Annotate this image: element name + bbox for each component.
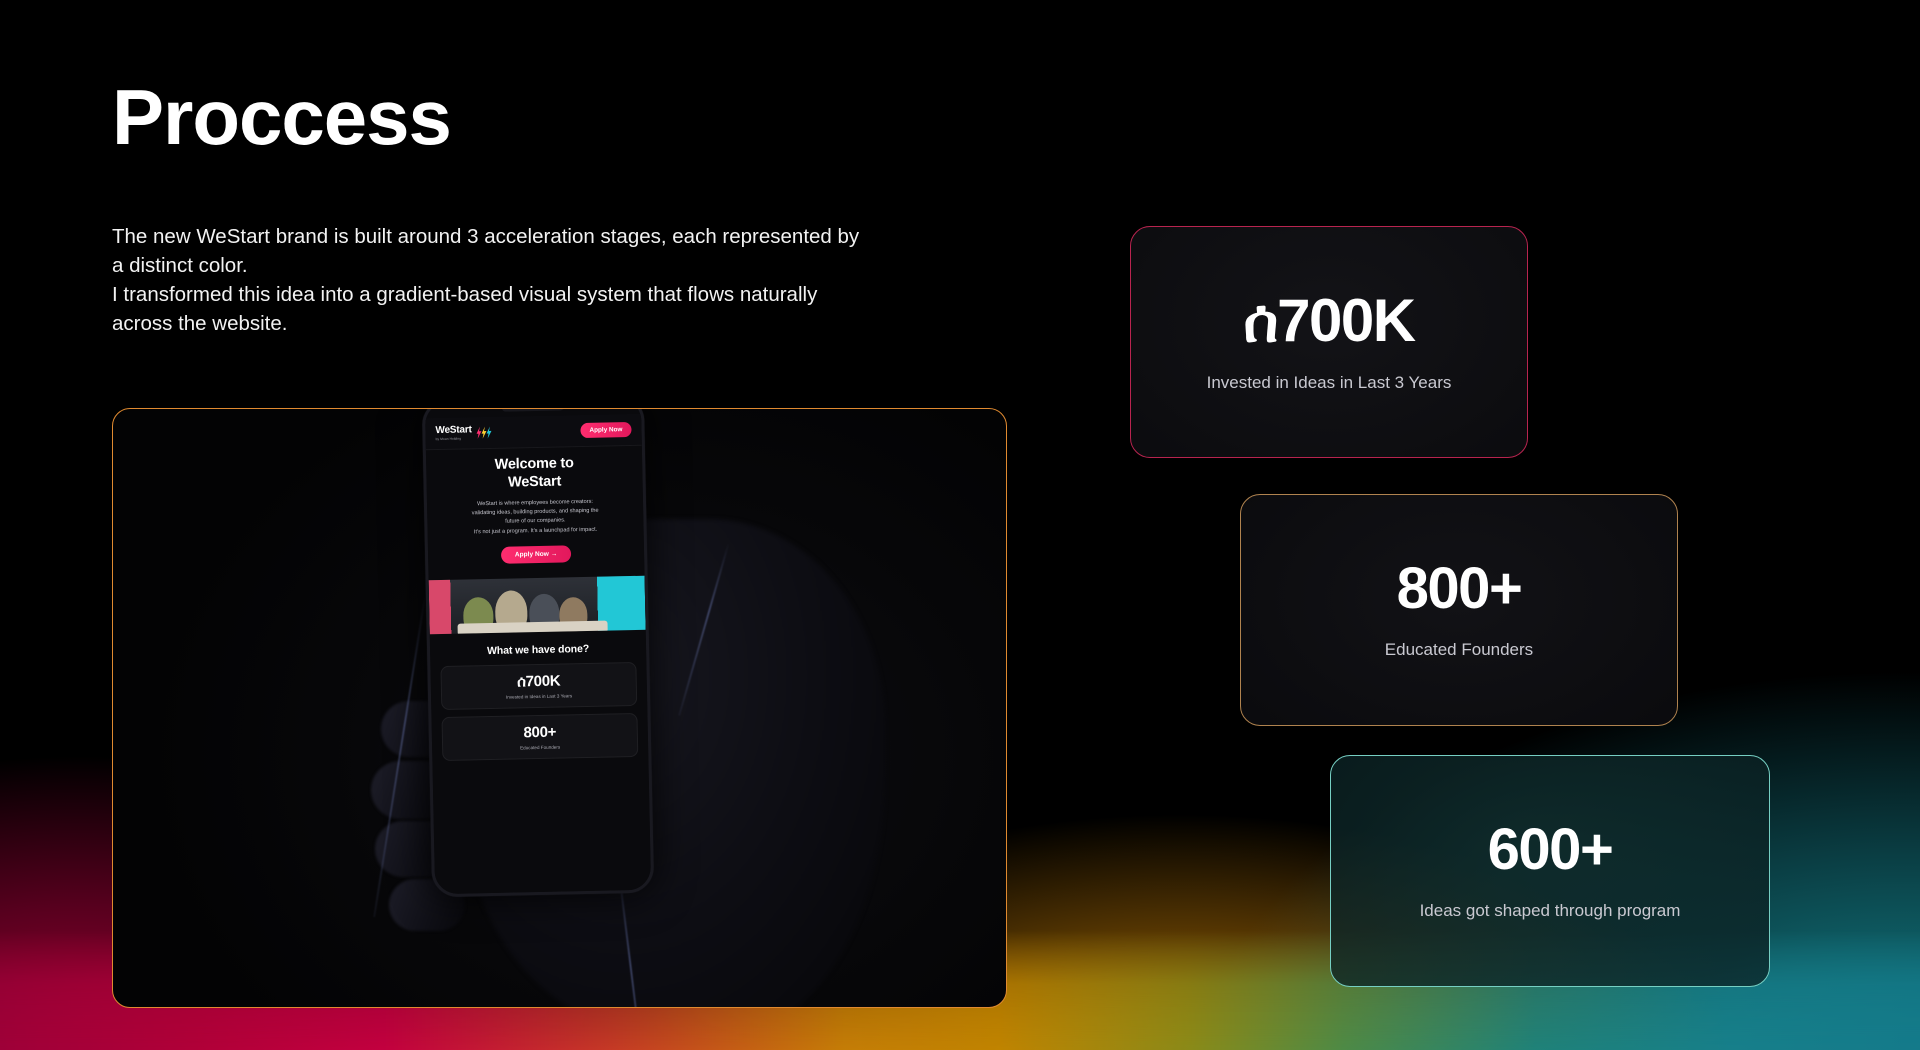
stat-card-ideas: 600+ Ideas got shaped through program	[1330, 755, 1770, 987]
phone-screen: WeStart by Moan Holding Apply Now Welco	[425, 408, 651, 894]
lightning-bolt-icon	[477, 426, 492, 439]
stat-label: Invested in Ideas in Last 3 Years	[1207, 373, 1452, 393]
mockup-frame: WeStart by Moan Holding Apply Now Welco	[112, 408, 1007, 1008]
phone-logo-subtitle: by Moan Holding	[436, 436, 472, 441]
phone-stat-label: Educated Founders	[449, 743, 631, 752]
stat-card-founders: 800+ Educated Founders	[1240, 494, 1678, 726]
phone-apply-now-nav-button[interactable]: Apply Now	[580, 422, 631, 438]
phone-logo[interactable]: WeStart by Moan Holding	[435, 425, 492, 441]
phone-stat-label: Invested in Ideas in Last 3 Years	[448, 692, 630, 701]
phone-mockup: WeStart by Moan Holding Apply Now Welco	[422, 408, 654, 897]
phone-hero-title: Welcome to WeStart	[438, 454, 631, 493]
stat-label: Ideas got shaped through program	[1420, 901, 1681, 921]
highlight-line	[678, 542, 730, 716]
slide-stage: Proccess The new WeStart brand is built …	[0, 0, 1920, 1050]
intro-paragraph-line: I transformed this idea into a gradient-…	[112, 280, 1052, 309]
phone-logo-text: WeStart	[435, 425, 471, 436]
phone-stat-card: 800+ Educated Founders	[441, 713, 638, 761]
phone-stat-value: 800+	[449, 723, 631, 742]
phone-hero-title-line: WeStart	[508, 473, 561, 490]
phone-stats-title: What we have done?	[440, 642, 636, 658]
stat-label: Educated Founders	[1385, 640, 1533, 660]
stat-card-invested: ሰ700K Invested in Ideas in Last 3 Years	[1130, 226, 1528, 458]
intro-paragraph: The new WeStart brand is built around 3 …	[112, 222, 1052, 338]
phone-stat-card: ሰ700K Invested in Ideas in Last 3 Years	[440, 662, 637, 710]
phone-hero-title-line: Welcome to	[494, 455, 573, 473]
phone-apply-now-cta-button[interactable]: Apply Now →	[501, 545, 572, 563]
intro-paragraph-line: The new WeStart brand is built around 3 …	[112, 222, 1052, 251]
stat-value: ሰ700K	[1243, 291, 1414, 351]
page-title: Proccess	[112, 78, 451, 156]
phone-stat-value: ሰ700K	[448, 672, 630, 691]
phone-navbar: WeStart by Moan Holding Apply Now	[425, 414, 642, 451]
intro-paragraph-line: a distinct color.	[112, 251, 1052, 280]
stat-value: 800+	[1397, 560, 1522, 618]
phone-hero-body: WeStart is where employees become creato…	[439, 497, 632, 537]
intro-paragraph-line: across the website.	[112, 309, 1052, 338]
photo-table	[458, 621, 608, 635]
stat-value: 600+	[1488, 821, 1613, 879]
phone-hero-section: Welcome to WeStart WeStart is where empl…	[426, 454, 644, 565]
phone-hero-photo	[429, 576, 646, 635]
phone-stats-section: What we have done? ሰ700K Invested in Ide…	[430, 642, 649, 768]
